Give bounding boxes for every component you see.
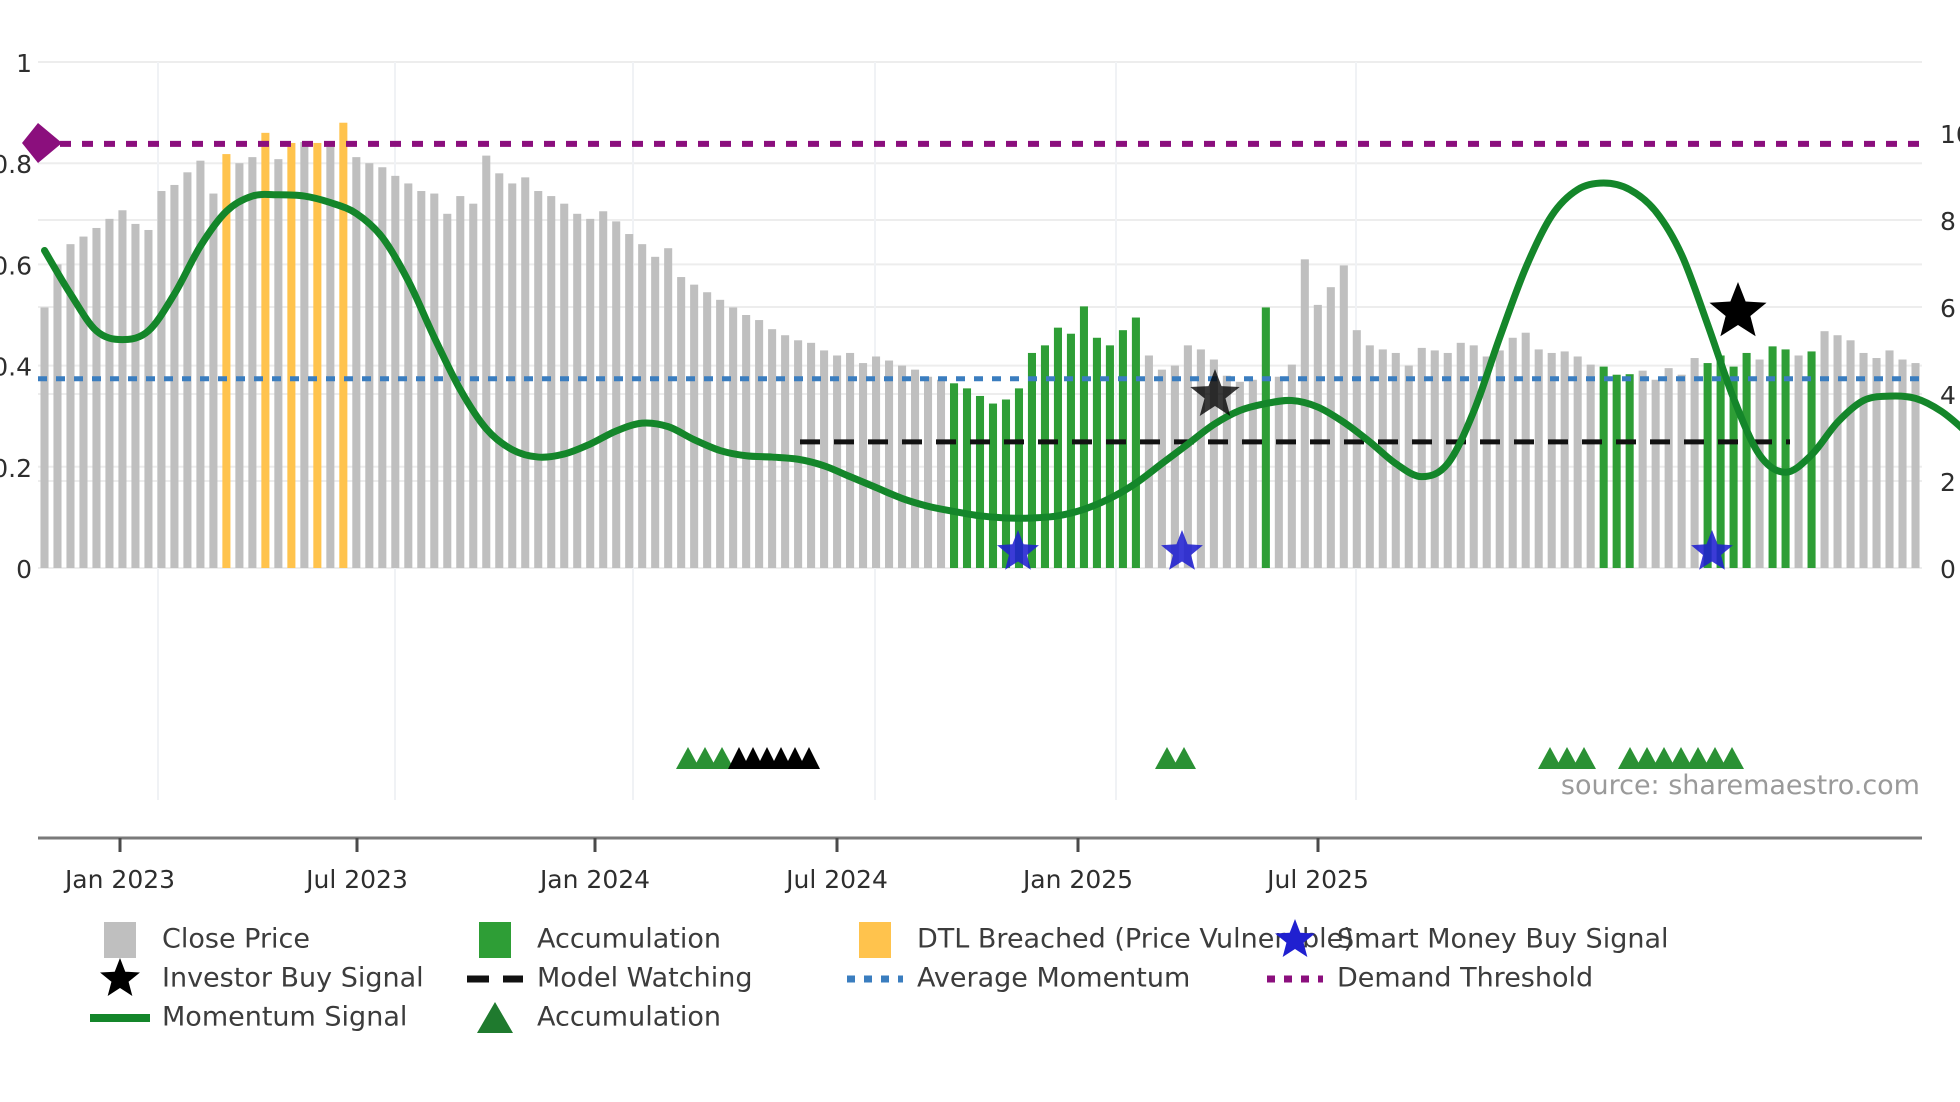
close-price-bar bbox=[1470, 345, 1478, 568]
x-tick-label: Jul 2025 bbox=[1265, 865, 1369, 894]
right-axis-tick-label: 0 bbox=[1940, 555, 1956, 584]
accumulation-bar bbox=[976, 396, 984, 568]
legend-dtl-breached[interactable]: DTL Breached (Price Vulnerable) bbox=[859, 922, 1354, 958]
close-price-bar bbox=[534, 191, 542, 568]
left-axis-tick-label: 1 bbox=[16, 49, 32, 78]
close-price-bar bbox=[300, 142, 308, 568]
accumulation-bar bbox=[1600, 367, 1608, 568]
dtl-breached-bar bbox=[261, 133, 269, 568]
close-price-bar bbox=[1522, 333, 1530, 568]
close-price-bar bbox=[1145, 355, 1153, 568]
right-axis-tick-label: 8 bbox=[1940, 207, 1956, 236]
close-price-bar bbox=[690, 285, 698, 568]
accumulation-bar bbox=[963, 388, 971, 568]
close-price-bar bbox=[729, 307, 737, 568]
legend-square-swatch bbox=[479, 922, 511, 958]
close-price-bar bbox=[105, 219, 113, 568]
legend-square-swatch bbox=[859, 922, 891, 958]
close-price-bar bbox=[937, 380, 945, 568]
close-price-bar bbox=[547, 196, 555, 568]
close-price-bar bbox=[183, 172, 191, 568]
close-price-bar bbox=[521, 177, 529, 568]
close-price-bar bbox=[378, 167, 386, 568]
close-price-bar bbox=[1288, 365, 1296, 568]
legend-square-swatch bbox=[104, 922, 136, 958]
right-axis-tick-label: 6 bbox=[1940, 294, 1956, 323]
close-price-bar bbox=[1275, 377, 1283, 568]
right-axis-tick-label: 4 bbox=[1940, 381, 1956, 410]
legend-close-price[interactable]: Close Price bbox=[104, 922, 310, 958]
legend-item-label: Demand Threshold bbox=[1337, 963, 1593, 994]
close-price-bar bbox=[144, 230, 152, 568]
close-price-bar bbox=[495, 173, 503, 568]
legend-item-label: Average Momentum bbox=[917, 963, 1190, 994]
legend-item-label: Model Watching bbox=[537, 963, 752, 994]
left-axis-tick-label: 0.2 bbox=[0, 454, 32, 483]
close-price-bar bbox=[1353, 330, 1361, 568]
close-price-bar bbox=[92, 228, 100, 568]
close-price-bar bbox=[1847, 340, 1855, 568]
source-attribution: source: sharemaestro.com bbox=[1561, 770, 1920, 801]
legend-item-label: Close Price bbox=[162, 924, 310, 955]
x-tick-label: Jan 2023 bbox=[63, 865, 175, 894]
left-axis-tick-label: 0.6 bbox=[0, 251, 32, 280]
close-price-bar bbox=[1301, 259, 1309, 568]
close-price-bar bbox=[768, 329, 776, 568]
close-price-bar bbox=[703, 292, 711, 568]
close-price-bar bbox=[664, 248, 672, 568]
close-price-bar bbox=[1327, 287, 1335, 568]
close-price-bar bbox=[612, 221, 620, 568]
close-price-bar bbox=[560, 204, 568, 568]
dtl-breached-bar bbox=[339, 123, 347, 568]
accumulation-bar bbox=[1717, 355, 1725, 568]
close-price-bar bbox=[79, 237, 87, 568]
close-price-bar bbox=[482, 156, 490, 568]
accumulation-bar bbox=[1093, 338, 1101, 568]
x-tick-label: Jul 2023 bbox=[304, 865, 408, 894]
accumulation-bar bbox=[1262, 307, 1270, 568]
accumulation-bar bbox=[1743, 353, 1751, 568]
legend-item-label: Momentum Signal bbox=[162, 1002, 407, 1033]
legend-item-label: Accumulation bbox=[537, 1002, 721, 1033]
close-price-bar bbox=[924, 377, 932, 568]
close-price-bar bbox=[248, 157, 256, 568]
legend-item-label: Accumulation bbox=[537, 924, 721, 955]
accumulation-bar bbox=[1080, 306, 1088, 568]
left-axis-tick-label: 0 bbox=[16, 555, 32, 584]
close-price-bar bbox=[1431, 350, 1439, 568]
right-axis-tick-label: 10 bbox=[1940, 120, 1960, 149]
legend-item-label: Investor Buy Signal bbox=[162, 963, 424, 994]
close-price-bar bbox=[651, 257, 659, 568]
close-price-bar bbox=[1197, 349, 1205, 568]
close-price-bar bbox=[1652, 380, 1660, 568]
close-price-bar bbox=[820, 350, 828, 568]
close-price-bar bbox=[1639, 371, 1647, 568]
close-price-bar bbox=[742, 315, 750, 568]
dtl-breached-bar bbox=[287, 143, 295, 568]
close-price-bar bbox=[872, 356, 880, 568]
close-price-bar bbox=[1911, 363, 1919, 568]
legend-item-label: Smart Money Buy Signal bbox=[1337, 924, 1669, 955]
close-price-bar bbox=[1314, 305, 1322, 568]
close-price-bar bbox=[1885, 350, 1893, 568]
x-tick-label: Jul 2024 bbox=[784, 865, 888, 894]
close-price-bar bbox=[40, 307, 48, 568]
close-price-bar bbox=[209, 194, 217, 568]
left-axis-tick-label: 0.4 bbox=[0, 353, 32, 382]
close-price-bar bbox=[196, 161, 204, 568]
accumulation-bar bbox=[950, 383, 958, 568]
close-price-bar bbox=[235, 163, 243, 568]
close-price-bar bbox=[391, 176, 399, 568]
close-price-bar bbox=[638, 244, 646, 568]
close-price-bar bbox=[846, 353, 854, 568]
accumulation-bar bbox=[1613, 375, 1621, 568]
accumulation-bar bbox=[1067, 334, 1075, 568]
close-price-bar bbox=[573, 214, 581, 568]
accumulation-bar bbox=[1782, 349, 1790, 568]
close-price-bar bbox=[898, 366, 906, 568]
close-price-bar bbox=[1535, 349, 1543, 568]
close-price-bar bbox=[1561, 351, 1569, 568]
accumulation-bar bbox=[1028, 353, 1036, 568]
close-price-bar bbox=[1821, 331, 1829, 568]
close-price-bar bbox=[885, 361, 893, 568]
close-price-bar bbox=[1678, 375, 1686, 568]
close-price-bar bbox=[1691, 358, 1699, 568]
accumulation-bar bbox=[1054, 328, 1062, 568]
right-axis-tick-label: 2 bbox=[1940, 468, 1956, 497]
accumulation-bar bbox=[1132, 318, 1140, 568]
close-price-bar bbox=[833, 355, 841, 568]
left-axis-tick-label: 0.8 bbox=[0, 150, 32, 179]
accumulation-bar bbox=[1626, 374, 1634, 568]
close-price-bar bbox=[755, 320, 763, 568]
close-price-bar bbox=[131, 224, 139, 568]
close-price-bar bbox=[443, 214, 451, 568]
close-price-bar bbox=[1171, 366, 1179, 568]
accumulation-bar bbox=[1002, 400, 1010, 569]
close-price-bar bbox=[794, 340, 802, 568]
close-price-bar bbox=[508, 183, 516, 568]
momentum-accumulation-chart: Jan 2023Jul 2023Jan 2024Jul 2024Jan 2025… bbox=[0, 0, 1960, 1102]
close-price-bar bbox=[1587, 365, 1595, 568]
close-price-bar bbox=[469, 204, 477, 568]
close-price-bar bbox=[1496, 350, 1504, 568]
close-price-bar bbox=[1873, 358, 1881, 568]
close-price-bar bbox=[1860, 353, 1868, 568]
close-price-bar bbox=[1548, 353, 1556, 568]
close-price-bar bbox=[625, 234, 633, 568]
dtl-breached-bar bbox=[313, 143, 321, 568]
x-tick-label: Jan 2025 bbox=[1021, 865, 1133, 894]
close-price-bar bbox=[677, 277, 685, 568]
accumulation-bar bbox=[989, 404, 997, 568]
close-price-bar bbox=[274, 159, 282, 568]
close-price-bar bbox=[118, 210, 126, 568]
close-price-bar bbox=[53, 264, 61, 568]
chart-root: Jan 2023Jul 2023Jan 2024Jul 2024Jan 2025… bbox=[0, 0, 1960, 1102]
close-price-bar bbox=[781, 335, 789, 568]
close-price-bar bbox=[1898, 360, 1906, 568]
close-price-bar bbox=[1509, 338, 1517, 568]
close-price-bar bbox=[911, 370, 919, 568]
close-price-bar bbox=[599, 211, 607, 568]
close-price-bar bbox=[1834, 335, 1842, 568]
close-price-bar bbox=[1665, 368, 1673, 568]
close-price-bar bbox=[1574, 356, 1582, 568]
close-price-bar bbox=[859, 363, 867, 568]
x-tick-label: Jan 2024 bbox=[538, 865, 650, 894]
close-price-bar bbox=[716, 300, 724, 568]
close-price-bar bbox=[404, 183, 412, 568]
accumulation-bar bbox=[1119, 330, 1127, 568]
close-price-bar bbox=[586, 219, 594, 568]
